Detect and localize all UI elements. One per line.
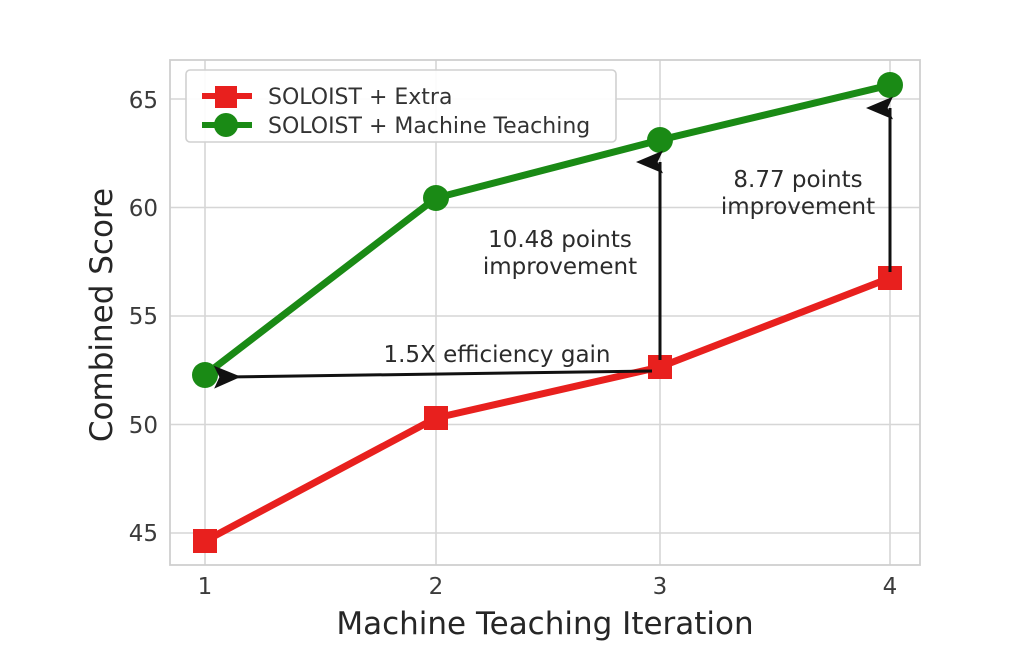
annotation-improvement-iter4-line2: improvement <box>721 194 875 220</box>
x-tick-label-4: 4 <box>883 574 898 600</box>
y-tick-label-45: 45 <box>129 521 158 547</box>
x-tick-label-3: 3 <box>653 574 668 600</box>
x-axis-title: Machine Teaching Iteration <box>336 606 753 642</box>
legend-label-soloist-machine-teaching: SOLOIST + Machine Teaching <box>268 114 590 139</box>
legend-marker-square-icon <box>215 86 237 108</box>
data-point-mt-2[interactable] <box>423 185 449 211</box>
y-tick-label-55: 55 <box>129 304 158 330</box>
chart-legend[interactable]: SOLOIST + Extra SOLOIST + Machine Teachi… <box>186 70 616 142</box>
y-tick-label-65: 65 <box>129 88 158 114</box>
annotation-improvement-iter4-line1: 8.77 points <box>733 167 862 193</box>
legend-label-soloist-extra: SOLOIST + Extra <box>268 85 452 110</box>
y-tick-label-50: 50 <box>129 413 158 439</box>
data-point-mt-3[interactable] <box>647 127 673 153</box>
x-tick-label-1: 1 <box>198 574 213 600</box>
annotation-improvement-iter3-line2: improvement <box>483 254 637 280</box>
line-chart: 10.48 points improvement 8.77 points imp… <box>0 0 1024 670</box>
data-point-mt-4[interactable] <box>877 72 903 98</box>
data-point-extra-1[interactable] <box>193 529 217 553</box>
data-point-mt-1[interactable] <box>192 362 218 388</box>
y-axis-title: Combined Score <box>84 188 120 442</box>
data-point-extra-2[interactable] <box>424 406 448 430</box>
x-tick-label-2: 2 <box>429 574 444 600</box>
annotation-improvement-iter3-line1: 10.48 points <box>488 227 632 253</box>
legend-marker-circle-icon <box>214 113 238 137</box>
annotation-efficiency-gain: 1.5X efficiency gain <box>383 342 610 368</box>
chart-figure: 10.48 points improvement 8.77 points imp… <box>0 0 1024 670</box>
y-tick-label-60: 60 <box>129 196 158 222</box>
